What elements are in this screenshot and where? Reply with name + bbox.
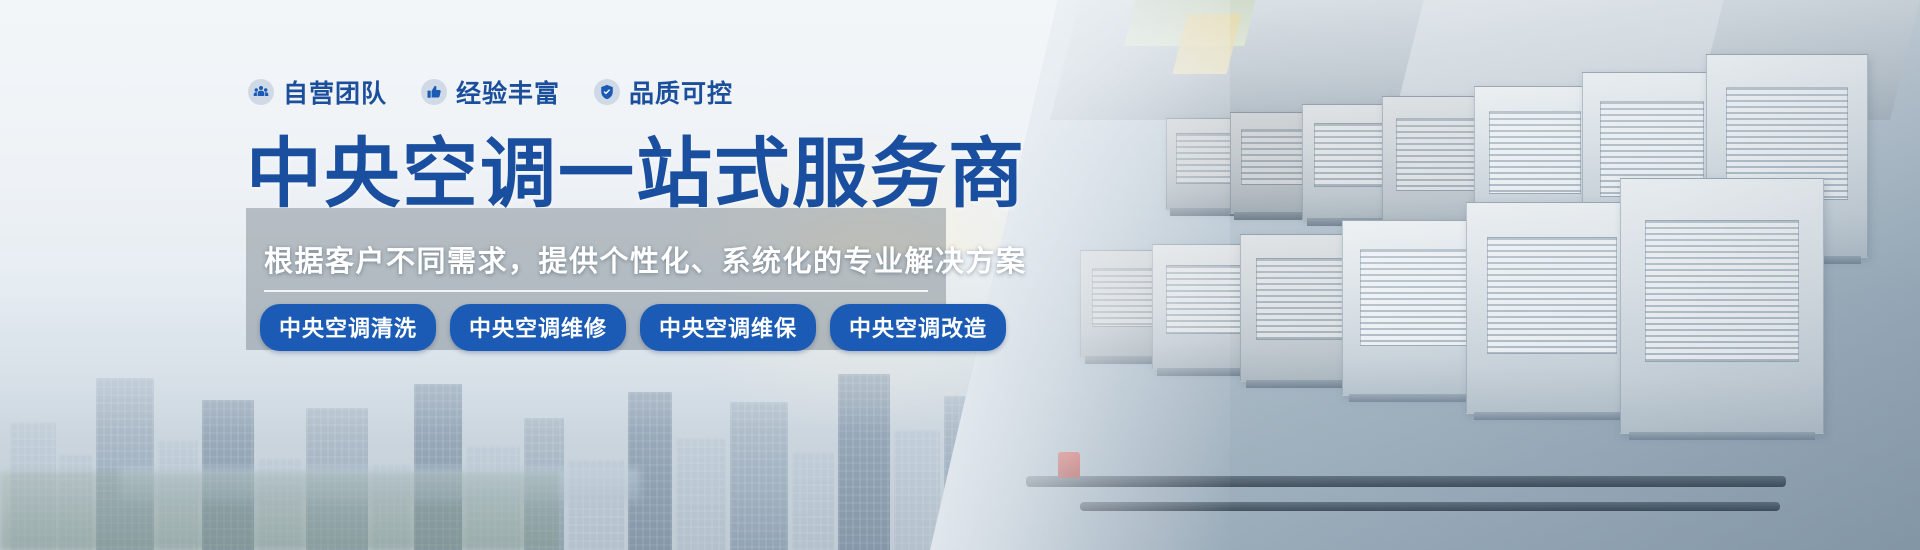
hvac-rooftop-photo [930,0,1920,550]
feature-label: 经验丰富 [456,74,560,110]
subtitle-text: 根据客户不同需求，提供个性化、系统化的专业解决方案 [264,238,1027,280]
hero-banner: 自营团队 经验丰富 品质可控 [0,0,1920,550]
feature-item-self-operated-team: 自营团队 [248,74,387,110]
service-tag-retrofit[interactable]: 中央空调改造 [830,304,1006,351]
feature-list: 自营团队 经验丰富 品质可控 [248,74,733,110]
divider [264,290,928,292]
service-tag-list: 中央空调清洗 中央空调维修 中央空调维保 中央空调改造 [260,304,1006,351]
feature-label: 品质可控 [629,74,733,110]
page-title: 中央空调一站式服务商 [246,112,1026,222]
thumbs-up-icon [421,79,447,105]
service-tag-cleaning[interactable]: 中央空调清洗 [260,304,436,351]
team-people-icon [248,79,274,105]
service-tag-repair[interactable]: 中央空调维修 [450,304,626,351]
feature-item-quality-control: 品质可控 [594,74,733,110]
feature-label: 自营团队 [283,74,387,110]
feature-item-rich-experience: 经验丰富 [421,74,560,110]
banner-content: 自营团队 经验丰富 品质可控 [0,0,1000,550]
subtitle-panel: 根据客户不同需求，提供个性化、系统化的专业解决方案 中央空调清洗 中央空调维修 … [246,208,946,350]
service-tag-maintenance[interactable]: 中央空调维保 [640,304,816,351]
shield-check-icon [594,79,620,105]
